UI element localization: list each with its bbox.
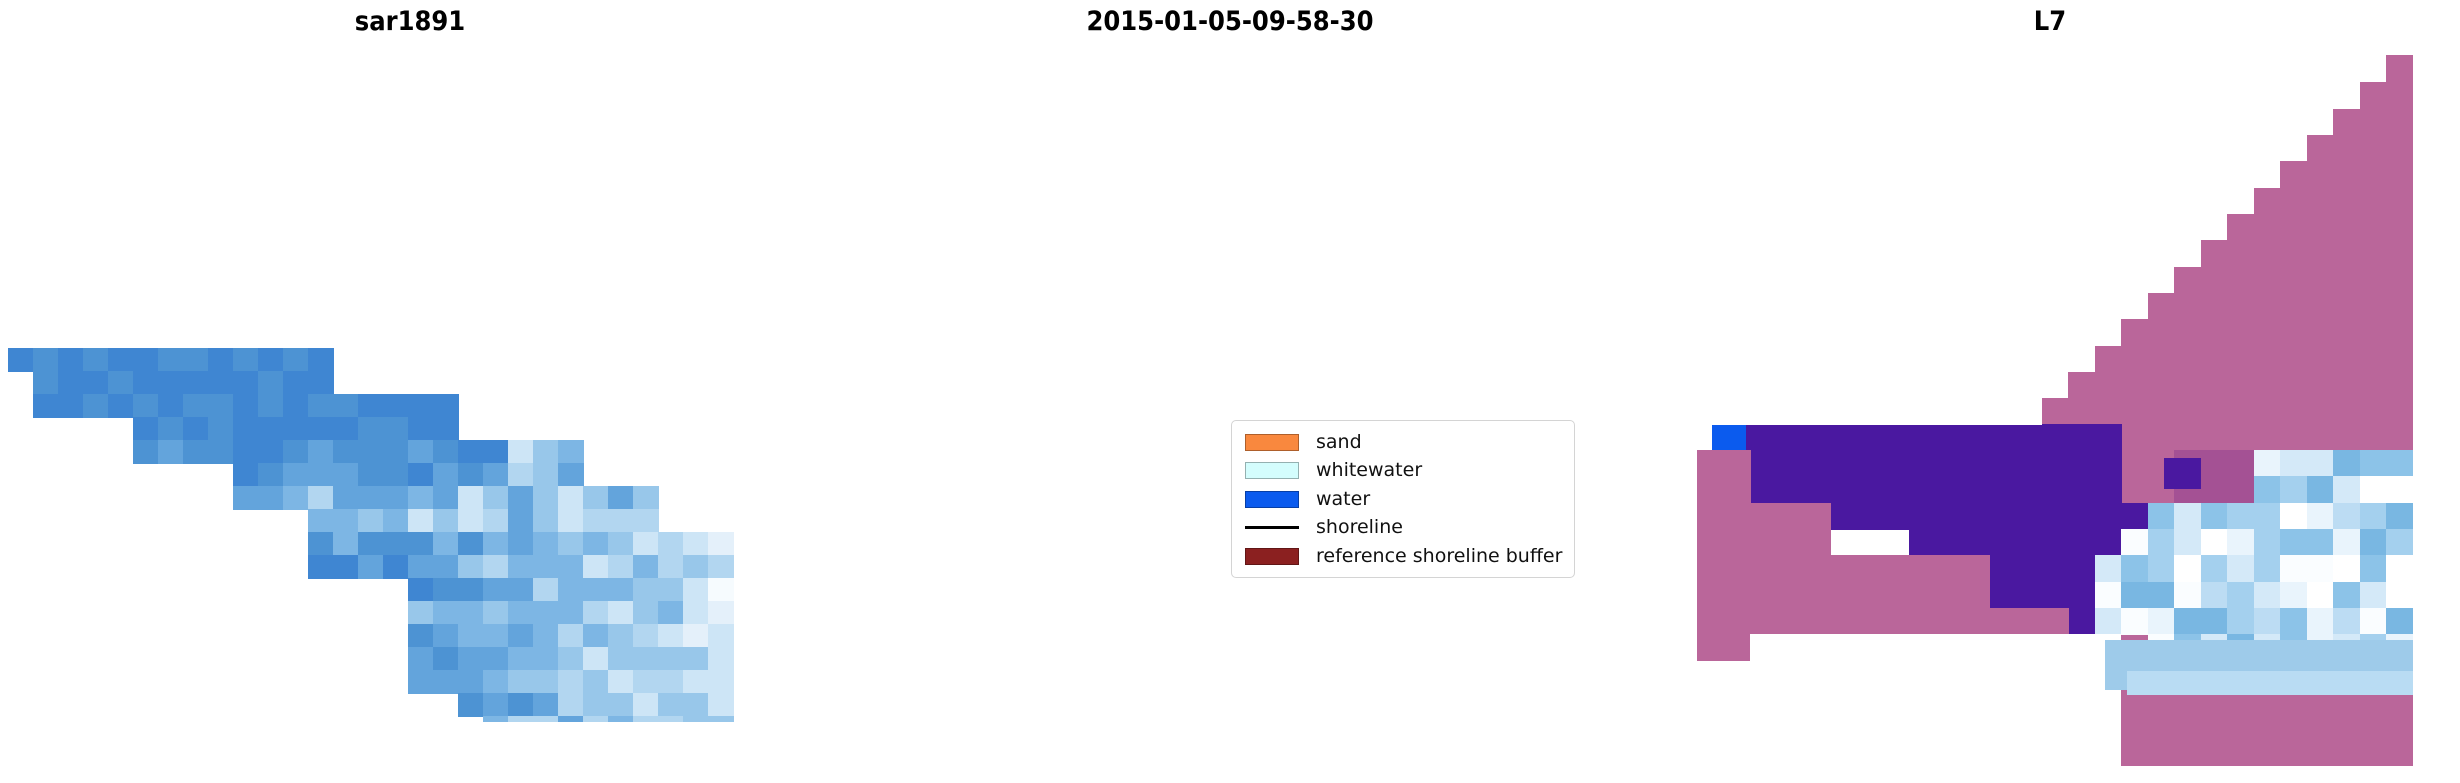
sar-pixel <box>458 463 484 487</box>
sar-pixel <box>408 532 434 556</box>
sar-pixel <box>283 371 309 395</box>
sar-pixel <box>633 693 659 717</box>
sar-pixel <box>658 578 684 602</box>
panel-sar: sar1891 <box>0 0 820 783</box>
sar-pixel <box>283 417 309 441</box>
sar-pixel <box>508 601 534 625</box>
sar-pixel <box>483 509 509 533</box>
sar-pixel <box>583 486 609 510</box>
sar-pixel <box>608 693 634 717</box>
sar-pixel <box>308 371 334 395</box>
sar-pixel <box>583 532 609 556</box>
sar-pixel <box>608 601 634 625</box>
sar-pixel <box>533 693 559 717</box>
sar-pixel <box>458 647 484 671</box>
sar-pixel <box>508 624 534 648</box>
sar-pixel <box>483 463 509 487</box>
legend-item-label: reference shoreline buffer <box>1316 547 1562 566</box>
sar-pixel <box>633 624 659 648</box>
sar-pixel <box>483 670 509 694</box>
sar-pixel <box>508 440 534 464</box>
sar-pixel <box>158 348 184 372</box>
sar-pixel <box>258 371 284 395</box>
sar-pixel <box>283 486 309 510</box>
sar-pixel <box>158 371 184 395</box>
sar-pixel <box>683 647 709 671</box>
legend-item-reference-shoreline-buffer: reference shoreline buffer <box>1245 544 1562 568</box>
sar-pixel <box>333 394 359 418</box>
sar-pixel <box>533 716 559 722</box>
legend-color-swatch <box>1245 491 1299 508</box>
sar-pixel <box>708 647 734 671</box>
sar-pixel <box>83 394 109 418</box>
sar-pixel <box>658 601 684 625</box>
sar-pixel <box>608 486 634 510</box>
sar-pixel <box>433 532 459 556</box>
sar-pixel <box>433 486 459 510</box>
sar-pixel <box>608 670 634 694</box>
sar-pixel <box>483 716 509 722</box>
sar-pixel <box>683 716 709 722</box>
sar-pixel <box>183 371 209 395</box>
sar-pixel <box>633 509 659 533</box>
sar-pixel <box>483 532 509 556</box>
sar-pixel <box>433 417 459 441</box>
sar-pixel <box>558 624 584 648</box>
sar-pixel <box>508 647 534 671</box>
sar-pixel <box>433 509 459 533</box>
sar-pixel <box>458 601 484 625</box>
sar-pixel <box>333 440 359 464</box>
sar-pixel <box>458 486 484 510</box>
sar-pixel <box>308 394 334 418</box>
sar-pixel <box>433 647 459 671</box>
legend-line-swatch <box>1245 519 1299 536</box>
sar-pixel <box>58 348 84 372</box>
sar-pixel <box>433 670 459 694</box>
sar-pixel <box>708 693 734 717</box>
sar-pixel <box>583 716 609 722</box>
sar-pixel <box>233 486 259 510</box>
sar-pixel <box>633 647 659 671</box>
sar-pixel <box>708 624 734 648</box>
sar-pixel <box>608 509 634 533</box>
sar-pixel <box>533 486 559 510</box>
panel-classified: 2015-01-05-09-58-30 <box>820 0 1640 783</box>
sar-pixel <box>158 394 184 418</box>
sar-pixel <box>458 509 484 533</box>
sar-pixel <box>508 670 534 694</box>
sar-pixel <box>108 394 134 418</box>
sar-pixel <box>633 555 659 579</box>
sar-pixel <box>158 417 184 441</box>
sar-pixel <box>333 417 359 441</box>
sar-pixel <box>683 693 709 717</box>
sar-pixel <box>508 486 534 510</box>
sar-pixel <box>308 417 334 441</box>
sar-pixel <box>358 532 384 556</box>
sar-pixel <box>133 440 159 464</box>
sar-pixel <box>108 371 134 395</box>
sar-pixel <box>558 532 584 556</box>
sar-pixel <box>583 624 609 648</box>
sar-pixel <box>383 509 409 533</box>
panel-l7: L7 <box>1640 0 2460 783</box>
sar-pixel <box>308 486 334 510</box>
sar-pixel <box>458 624 484 648</box>
sar-pixel <box>408 394 434 418</box>
sar-pixel <box>458 693 484 717</box>
sar-pixel <box>233 394 259 418</box>
sar-pixel <box>483 578 509 602</box>
sar-pixel <box>508 532 534 556</box>
legend-item-sand: sand <box>1245 430 1562 454</box>
sar-pixel <box>58 394 84 418</box>
sar-pixel <box>383 486 409 510</box>
sar-pixel <box>458 532 484 556</box>
legend-color-swatch <box>1245 462 1299 479</box>
sar-pixel <box>258 394 284 418</box>
sar-pixel <box>533 440 559 464</box>
sar-pixel <box>408 440 434 464</box>
sar-pixel <box>558 486 584 510</box>
sar-pixel <box>433 578 459 602</box>
sar-pixel <box>558 555 584 579</box>
sar-pixel <box>433 463 459 487</box>
sar-pixel <box>633 716 659 722</box>
sar-pixel <box>533 624 559 648</box>
legend-color-swatch <box>1245 434 1299 451</box>
sar-pixel <box>558 716 584 722</box>
sar-pixel <box>533 463 559 487</box>
sar-pixel <box>658 670 684 694</box>
sar-pixel <box>383 532 409 556</box>
sar-pixel <box>383 417 409 441</box>
sar-pixel <box>208 348 234 372</box>
sar-pixel <box>233 440 259 464</box>
sar-pixel <box>183 348 209 372</box>
sar-pixel <box>583 601 609 625</box>
legend-item-whitewater: whitewater <box>1245 459 1562 483</box>
sar-pixel <box>358 486 384 510</box>
sar-pixel <box>258 486 284 510</box>
sar-pixel <box>683 578 709 602</box>
sar-pixel <box>558 601 584 625</box>
sar-pixel <box>683 532 709 556</box>
sar-pixel <box>558 440 584 464</box>
sar-pixel <box>508 463 534 487</box>
sar-pixel <box>308 532 334 556</box>
sar-pixel <box>308 348 334 372</box>
sar-pixel <box>658 532 684 556</box>
sar-pixel <box>683 601 709 625</box>
sar-pixel <box>558 647 584 671</box>
sar-pixel <box>83 371 109 395</box>
sar-pixel <box>358 555 384 579</box>
panel-title-l7: L7 <box>1640 6 2460 37</box>
sar-pixel <box>408 555 434 579</box>
sar-pixel <box>133 417 159 441</box>
sar-pixel <box>583 509 609 533</box>
sar-pixel <box>408 417 434 441</box>
figure-canvas: sar1891 2015-01-05-09-58-30 L7 sandwhite… <box>0 0 2460 783</box>
panel-title-sar: sar1891 <box>0 6 820 37</box>
sar-pixel <box>308 463 334 487</box>
legend-item-label: water <box>1316 490 1370 509</box>
sar-pixel <box>408 463 434 487</box>
legend-item-label: whitewater <box>1316 461 1422 480</box>
panel-title-classified: 2015-01-05-09-58-30 <box>820 6 1640 37</box>
sar-pixel <box>233 463 259 487</box>
sar-pixel <box>708 532 734 556</box>
sar-pixel <box>33 348 59 372</box>
sar-pixel <box>658 693 684 717</box>
sar-pixel <box>458 555 484 579</box>
sar-pixel <box>483 440 509 464</box>
sar-pixel <box>208 371 234 395</box>
sar-pixel <box>358 440 384 464</box>
sar-pixel <box>208 440 234 464</box>
sar-pixel <box>633 578 659 602</box>
sar-pixel <box>383 463 409 487</box>
sar-pixel <box>583 647 609 671</box>
sar-pixel <box>508 509 534 533</box>
sar-pixel <box>133 394 159 418</box>
sar-pixel <box>633 532 659 556</box>
sar-pixel <box>358 394 384 418</box>
sar-pixel <box>683 555 709 579</box>
sar-pixel <box>533 601 559 625</box>
sar-pixel <box>533 532 559 556</box>
sar-pixel <box>708 578 734 602</box>
sar-pixel <box>708 716 734 722</box>
sar-pixel <box>558 463 584 487</box>
sar-pixel <box>558 578 584 602</box>
sar-pixel <box>258 440 284 464</box>
sar-pixel <box>333 532 359 556</box>
sar-pixel <box>383 394 409 418</box>
sar-pixel <box>208 394 234 418</box>
sar-pixel <box>683 670 709 694</box>
sar-pixel <box>333 555 359 579</box>
sar-pixel <box>83 348 109 372</box>
sar-pixel <box>283 463 309 487</box>
sar-pixel <box>283 440 309 464</box>
sar-pixel <box>483 555 509 579</box>
sar-pixel <box>633 601 659 625</box>
legend-item-label: shoreline <box>1316 518 1403 537</box>
sar-pixel <box>308 509 334 533</box>
legend-item-label: sand <box>1316 433 1362 452</box>
sar-pixel <box>283 348 309 372</box>
sar-pixel <box>333 463 359 487</box>
sar-pixel <box>708 670 734 694</box>
sar-pixel <box>483 693 509 717</box>
sar-pixel <box>533 509 559 533</box>
sar-pixel <box>583 578 609 602</box>
sar-pixel <box>483 601 509 625</box>
sar-pixel <box>533 670 559 694</box>
sar-pixel <box>433 555 459 579</box>
sar-pixel <box>708 555 734 579</box>
sar-pixel <box>358 509 384 533</box>
sar-pixel <box>658 555 684 579</box>
sar-pixel <box>658 647 684 671</box>
sar-pixel <box>308 440 334 464</box>
sar-pixel <box>408 509 434 533</box>
sar-pixel <box>158 440 184 464</box>
sar-pixel <box>458 670 484 694</box>
sar-pixel <box>458 578 484 602</box>
sar-pixel <box>133 371 159 395</box>
sar-pixel <box>108 348 134 372</box>
sar-pixel <box>558 670 584 694</box>
sar-pixel <box>333 509 359 533</box>
sar-pixel <box>533 578 559 602</box>
sar-pixel <box>608 647 634 671</box>
sar-pixel <box>433 394 459 418</box>
sar-pixel <box>233 371 259 395</box>
sar-pixel <box>408 486 434 510</box>
sar-pixel <box>533 555 559 579</box>
sar-pixel <box>383 555 409 579</box>
sar-pixel <box>358 463 384 487</box>
sar-pixel <box>8 348 34 372</box>
sar-pixel <box>558 693 584 717</box>
sar-pixel <box>608 716 634 722</box>
legend-item-water: water <box>1245 487 1562 511</box>
sar-pixel <box>58 371 84 395</box>
sar-pixel <box>683 624 709 648</box>
sar-pixel <box>408 670 434 694</box>
sar-pixel <box>508 716 534 722</box>
sar-pixel <box>258 348 284 372</box>
sar-pixel <box>658 716 684 722</box>
sar-pixel <box>533 647 559 671</box>
sar-pixel <box>183 417 209 441</box>
sar-pixel <box>408 601 434 625</box>
sar-pixel <box>308 555 334 579</box>
sar-pixel <box>658 624 684 648</box>
sar-pixel <box>358 417 384 441</box>
sar-pixel <box>408 647 434 671</box>
sar-pixel <box>283 394 309 418</box>
sar-pixel <box>608 624 634 648</box>
sar-pixel <box>508 693 534 717</box>
sar-pixel <box>33 394 59 418</box>
legend-color-swatch <box>1245 548 1299 565</box>
sar-pixel <box>558 509 584 533</box>
sar-pixel <box>608 532 634 556</box>
sar-pixel <box>483 624 509 648</box>
sar-pixel <box>433 601 459 625</box>
sar-pixel <box>258 417 284 441</box>
sar-pixel <box>233 348 259 372</box>
sar-pixel <box>433 624 459 648</box>
sar-pixel <box>383 440 409 464</box>
sar-pixel <box>233 417 259 441</box>
sar-pixel <box>508 555 534 579</box>
sar-pixel <box>583 693 609 717</box>
sar-pixel <box>608 555 634 579</box>
sar-raster-image <box>8 348 734 722</box>
sar-pixel <box>433 440 459 464</box>
sar-pixel <box>633 670 659 694</box>
sar-pixel <box>133 348 159 372</box>
sar-pixel <box>208 417 234 441</box>
sar-pixel <box>608 578 634 602</box>
legend-box: sandwhitewaterwatershorelinereference sh… <box>1231 420 1575 578</box>
sar-pixel <box>333 486 359 510</box>
sar-pixel <box>508 578 534 602</box>
sar-pixel <box>483 647 509 671</box>
sar-pixel <box>408 578 434 602</box>
sar-pixel <box>258 463 284 487</box>
sar-pixel <box>33 371 59 395</box>
shoreline-line-icon <box>1245 526 1299 529</box>
sar-pixel <box>483 486 509 510</box>
sar-pixel <box>408 624 434 648</box>
sar-pixel <box>633 486 659 510</box>
sar-pixel <box>183 440 209 464</box>
sar-pixel <box>708 601 734 625</box>
sar-pixel <box>583 555 609 579</box>
sar-pixel <box>183 394 209 418</box>
sar-pixel <box>583 670 609 694</box>
sar-pixel <box>458 440 484 464</box>
legend-item-shoreline: shoreline <box>1245 516 1562 540</box>
